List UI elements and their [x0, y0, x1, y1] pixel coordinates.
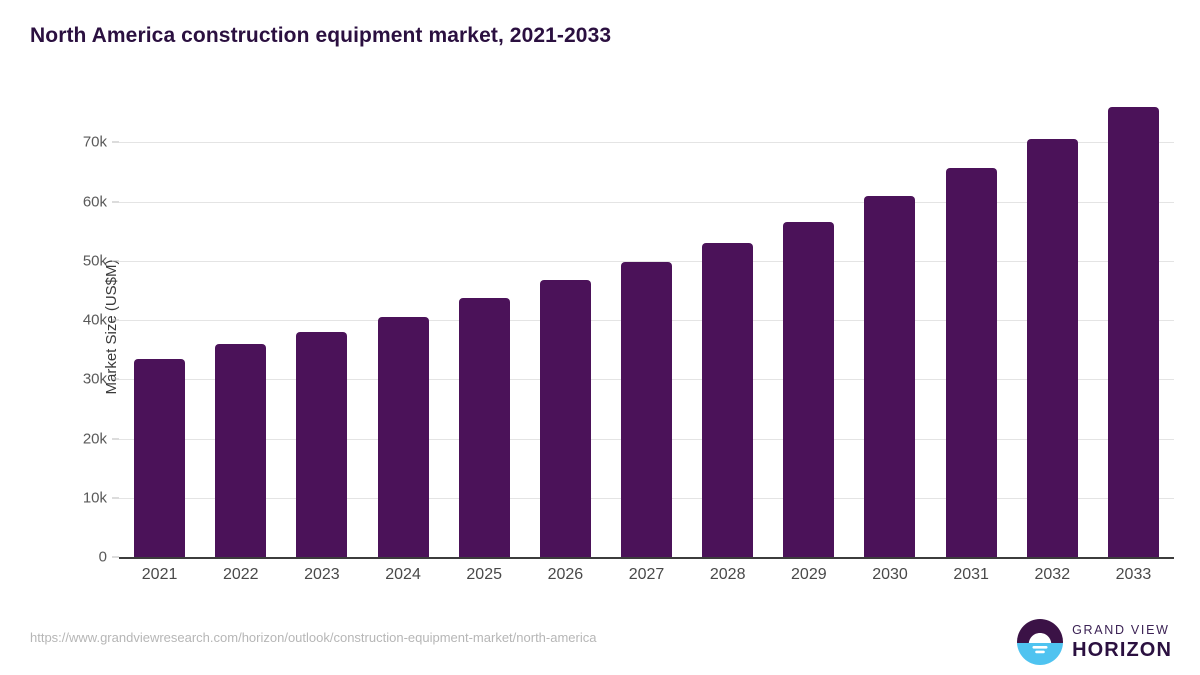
- bar[interactable]: [134, 359, 185, 557]
- bar[interactable]: [864, 196, 915, 557]
- source-url[interactable]: https://www.grandviewresearch.com/horizo…: [30, 630, 596, 645]
- x-tick-label: 2022: [200, 566, 281, 584]
- x-axis-line: [119, 557, 1174, 559]
- x-tick-label: 2028: [687, 566, 768, 584]
- horizon-sun-circle-icon: [1017, 619, 1063, 665]
- x-tick-label: 2026: [525, 566, 606, 584]
- x-tick-label: 2027: [606, 566, 687, 584]
- bar[interactable]: [1027, 139, 1078, 557]
- y-tick-label: 0: [99, 549, 107, 566]
- bar-slot: [768, 95, 849, 557]
- bar[interactable]: [378, 317, 429, 557]
- bar-slot: [362, 95, 443, 557]
- y-tick-label: 70k: [83, 134, 107, 151]
- x-tick-label: 2023: [281, 566, 362, 584]
- y-tick-mark: [112, 142, 119, 143]
- y-tick-mark: [112, 320, 119, 321]
- y-tick-mark: [112, 497, 119, 498]
- x-tick-label: 2030: [849, 566, 930, 584]
- bar-slot: [119, 95, 200, 557]
- y-tick-label: 10k: [83, 489, 107, 506]
- bar-slot: [687, 95, 768, 557]
- bar[interactable]: [783, 222, 834, 557]
- x-tick-label: 2024: [362, 566, 443, 584]
- page-title: North America construction equipment mar…: [30, 24, 611, 48]
- bar[interactable]: [459, 298, 510, 557]
- y-tick-label: 40k: [83, 312, 107, 329]
- bar-slot: [444, 95, 525, 557]
- bar-slot: [200, 95, 281, 557]
- bar-slot: [931, 95, 1012, 557]
- chart-page: North America construction equipment mar…: [0, 0, 1200, 675]
- y-tick-label: 60k: [83, 193, 107, 210]
- bar-series: [119, 95, 1174, 557]
- y-tick-label: 50k: [83, 252, 107, 269]
- bar-slot: [606, 95, 687, 557]
- bar[interactable]: [215, 344, 266, 557]
- bar-slot: [849, 95, 930, 557]
- y-tick-label: 20k: [83, 430, 107, 447]
- bar-slot: [525, 95, 606, 557]
- brand-logo: GRAND VIEW HORIZON: [1017, 619, 1172, 665]
- x-tick-label: 2021: [119, 566, 200, 584]
- y-tick-mark: [112, 260, 119, 261]
- bar[interactable]: [296, 332, 347, 557]
- brand-text: GRAND VIEW HORIZON: [1072, 624, 1172, 661]
- y-tick-mark: [112, 557, 119, 558]
- brand-name-primary: GRAND VIEW: [1072, 624, 1172, 637]
- y-tick-mark: [112, 438, 119, 439]
- x-tick-label: 2025: [444, 566, 525, 584]
- x-tick-label: 2033: [1093, 566, 1174, 584]
- x-tick-label: 2032: [1012, 566, 1093, 584]
- bar[interactable]: [946, 168, 997, 557]
- bar-slot: [1012, 95, 1093, 557]
- y-tick-mark: [112, 201, 119, 202]
- brand-name-secondary: HORIZON: [1072, 640, 1172, 660]
- bar[interactable]: [621, 262, 672, 557]
- bar-slot: [1093, 95, 1174, 557]
- y-tick-mark: [112, 379, 119, 380]
- x-tick-label: 2031: [931, 566, 1012, 584]
- bar[interactable]: [540, 280, 591, 557]
- x-axis-ticks: 2021202220232024202520262027202820292030…: [119, 566, 1174, 584]
- y-tick-label: 30k: [83, 371, 107, 388]
- bar[interactable]: [1108, 107, 1159, 557]
- x-tick-label: 2029: [768, 566, 849, 584]
- plot-area: Market Size (US$M) 010k20k30k40k50k60k70…: [119, 95, 1174, 559]
- bar[interactable]: [702, 243, 753, 557]
- bar-slot: [281, 95, 362, 557]
